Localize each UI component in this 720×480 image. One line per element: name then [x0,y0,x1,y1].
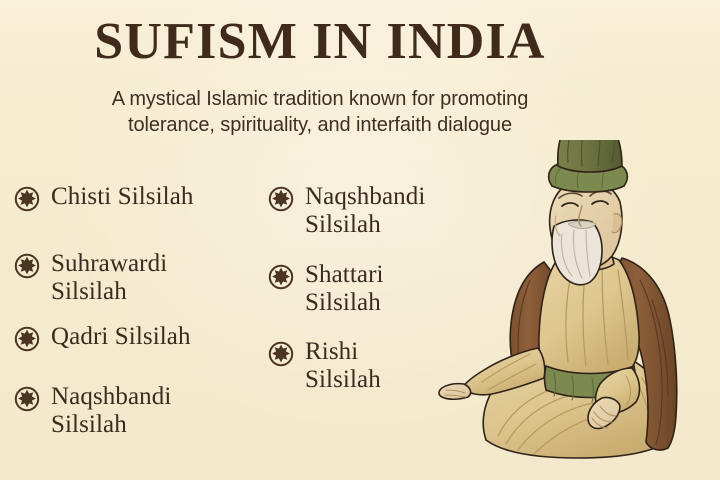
sufism-poster: SUFISM IN INDIA A mystical Islamic tradi… [0,0,720,480]
list-item-label: Suhrawardi Silsilah [51,250,167,306]
list-item[interactable]: Suhrawardi Silsilah [14,250,167,306]
eight-point-star-icon [268,186,294,212]
eight-point-star-icon [268,264,294,290]
subtitle-line-1: A mystical Islamic tradition known for p… [0,86,640,112]
eight-point-star-icon [14,386,40,412]
list-item[interactable]: Rishi Silsilah [268,338,381,394]
list-item-label: Naqshbandi Silsilah [51,383,171,439]
list-item-label: Qadri Silsilah [51,323,191,351]
list-item[interactable]: Chisti Silsilah [14,183,194,212]
subtitle-line-2: tolerance, spirituality, and interfaith … [0,112,640,138]
page-subtitle: A mystical Islamic tradition known for p… [0,86,640,139]
eight-point-star-icon [14,326,40,352]
eight-point-star-icon [14,253,40,279]
list-item[interactable]: Naqshbandi Silsilah [268,183,425,239]
list-item-label: Shattari Silsilah [305,261,384,317]
eight-point-star-icon [268,341,294,367]
list-item[interactable]: Shattari Silsilah [268,261,384,317]
page-title: SUFISM IN INDIA [0,16,640,68]
silsilah-columns: Chisti Silsilah Suhrawardi Silsilah [0,183,520,473]
list-item-label: Naqshbandi Silsilah [305,183,425,239]
eight-point-star-icon [14,186,40,212]
list-item[interactable]: Qadri Silsilah [14,323,191,352]
list-item-label: Rishi Silsilah [305,338,381,394]
list-item-label: Chisti Silsilah [51,183,194,211]
list-item[interactable]: Naqshbandi Silsilah [14,383,171,439]
